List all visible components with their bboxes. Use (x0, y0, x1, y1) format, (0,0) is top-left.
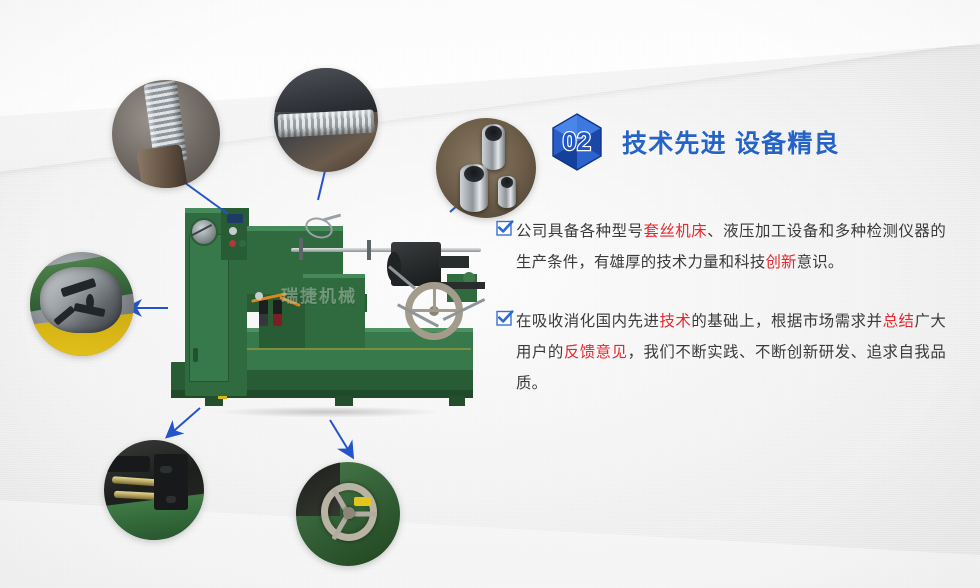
bullet-item: 公司具备各种型号套丝机床、液压加工设备和多种检测仪器的生产条件，有雄厚的技术力量… (496, 216, 966, 278)
callout-die-head-chuck-detail (30, 252, 134, 356)
bullet2-seg5: 反馈意见 (564, 343, 628, 361)
checkbox-checked-icon (496, 309, 514, 327)
section-title: 技术先进 设备精良 (622, 124, 840, 160)
content-column: 02 技术先进 设备精良 公司具备各种型号套丝机床、液压加工设备和多种检测仪器的… (496, 110, 966, 399)
bullet-text-1: 公司具备各种型号套丝机床、液压加工设备和多种检测仪器的生产条件，有雄厚的技术力量… (516, 216, 946, 278)
callout-handwheel-detail (296, 462, 400, 566)
bullet1-seg0: 公司具备各种型号 (516, 222, 644, 240)
badge-number-text: 02 (548, 113, 606, 171)
bullet2-seg0: 在吸收消化国内先进 (516, 312, 659, 330)
callout-hydraulic-hose-detail (104, 440, 204, 540)
section-header: 02 技术先进 设备精良 (496, 110, 966, 174)
bullet2-seg1: 技术 (659, 312, 691, 330)
bullet2-seg3: 总结 (883, 312, 915, 330)
bullet1-seg4: 意识。 (797, 253, 844, 271)
bullet1-seg3: 创新 (765, 253, 796, 271)
bullet-text-2: 在吸收消化国内先进技术的基础上，根据市场需求并总结广大用户的反馈意见，我们不断实… (516, 306, 946, 399)
checkbox-checked-icon (496, 219, 514, 237)
bullet-item: 在吸收消化国内先进技术的基础上，根据市场需求并总结广大用户的反馈意见，我们不断实… (496, 306, 966, 399)
promo-banner: 瑞捷机械 (0, 0, 980, 588)
bullet2-seg2: 的基础上，根据市场需求并 (691, 312, 882, 330)
section-number-badge: 02 (548, 113, 606, 171)
bullet1-seg1: 套丝机床 (644, 222, 708, 240)
product-photo-threading-machine: 瑞捷机械 (163, 196, 493, 416)
callout-threaded-bar-detail (274, 68, 378, 172)
photo-watermark: 瑞捷机械 (281, 282, 411, 304)
callout-threaded-rod-detail (112, 80, 220, 188)
